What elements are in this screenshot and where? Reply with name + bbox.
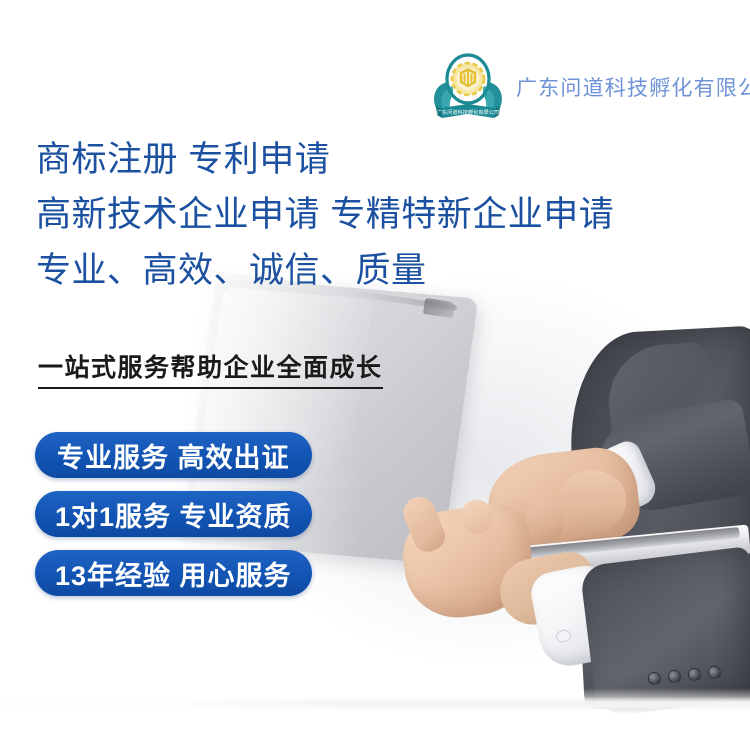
poster-content: 广东问道科技孵化有限公司 广东问道科技孵化有限公司 商标注册 专利申请 高新技术… [0,0,750,750]
headline-block: 商标注册 专利申请 高新技术企业申请 专精特新企业申请 专业、高效、诚信、质量 [36,132,636,298]
sub-headline: 一站式服务帮助企业全面成长 [38,348,383,389]
feature-pill-2[interactable]: 1对1服务 专业资质 [35,491,312,537]
feature-pill-1[interactable]: 专业服务 高效出证 [35,432,312,478]
headline-line-1: 商标注册 专利申请 [36,132,636,187]
brand-lockup: 广东问道科技孵化有限公司 广东问道科技孵化有限公司 [428,48,750,126]
company-emblem-icon: 广东问道科技孵化有限公司 [428,48,508,126]
feature-pill-list: 专业服务 高效出证 1对1服务 专业资质 13年经验 用心服务 [35,432,312,596]
headline-line-3: 专业、高效、诚信、质量 [36,243,636,298]
promo-poster: 广东问道科技孵化有限公司 广东问道科技孵化有限公司 商标注册 专利申请 高新技术… [0,0,750,750]
company-name: 广东问道科技孵化有限公司 [516,72,750,102]
feature-pill-3[interactable]: 13年经验 用心服务 [35,550,312,596]
svg-text:广东问道科技孵化有限公司: 广东问道科技孵化有限公司 [437,108,499,116]
headline-line-2: 高新技术企业申请 专精特新企业申请 [36,187,636,242]
